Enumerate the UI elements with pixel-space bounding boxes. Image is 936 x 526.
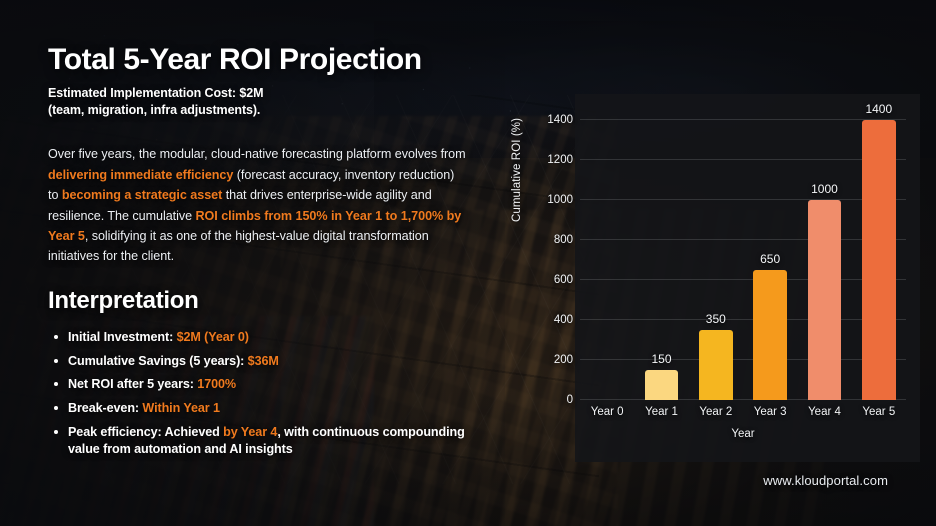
chart-bar-cell[interactable]: 150	[634, 100, 688, 400]
chart-y-tick-label: 1000	[547, 194, 573, 206]
interpretation-bullet-list: Initial Investment: $2M (Year 0) Cumulat…	[48, 329, 468, 458]
chart-bar-value-label: 1000	[811, 182, 838, 196]
chart-y-tick-label: 400	[554, 314, 573, 326]
bullet-label: Initial Investment:	[68, 330, 173, 344]
chart-bar-cell[interactable]: 1000	[797, 100, 851, 400]
chart-bar-cell[interactable]: 1400	[852, 100, 906, 400]
chart-bar-value-label: 1400	[865, 102, 892, 116]
chart-y-axis-label: Cumulative ROI (%)	[511, 90, 523, 250]
chart-x-axis-label: Year	[580, 428, 906, 440]
chart-bar[interactable]: 1400	[862, 120, 896, 400]
chart-bar[interactable]: 650	[753, 270, 787, 400]
list-item: Initial Investment: $2M (Year 0)	[48, 329, 468, 346]
implementation-cost-subtitle: Estimated Implementation Cost: $2M (team…	[48, 85, 468, 118]
subtitle-line-2: (team, migration, infra adjustments).	[48, 103, 260, 117]
bullet-label: Net ROI after 5 years:	[68, 377, 194, 391]
list-item: Peak efficiency: Achieved by Year 4, wit…	[48, 424, 468, 458]
page-title: Total 5-Year ROI Projection	[48, 44, 468, 76]
chart-bar-cell[interactable]	[580, 100, 634, 400]
bullet-value: by Year 4	[220, 425, 278, 439]
paragraph-segment-4: , solidifying it as one of the highest-v…	[48, 229, 429, 263]
interpretation-heading: Interpretation	[48, 287, 468, 315]
bullet-label: Cumulative Savings (5 years):	[68, 354, 244, 368]
summary-paragraph: Over five years, the modular, cloud-nati…	[48, 144, 468, 266]
chart-x-tick-label: Year 1	[634, 406, 688, 418]
chart-bar-cell[interactable]: 650	[743, 100, 797, 400]
chart-bars-group: 15035065010001400	[580, 100, 906, 400]
chart-x-tick-labels: Year 0Year 1Year 2Year 3Year 4Year 5	[580, 406, 906, 418]
subtitle-line-1: Estimated Implementation Cost: $2M	[48, 86, 263, 100]
paragraph-segment-1: Over five years, the modular, cloud-nati…	[48, 147, 466, 161]
chart-y-tick-label: 200	[554, 354, 573, 366]
bullet-value: $2M (Year 0)	[173, 330, 249, 344]
chart-bar[interactable]: 350	[699, 330, 733, 400]
bullet-label: Break-even:	[68, 401, 139, 415]
website-url[interactable]: www.kloudportal.com	[763, 473, 888, 488]
chart-y-tick-label: 1400	[547, 114, 573, 126]
chart-y-tick-label: 1200	[547, 154, 573, 166]
chart-bar-value-label: 350	[706, 312, 726, 326]
list-item: Net ROI after 5 years: 1700%	[48, 376, 468, 393]
chart-plot-area: 0200400600800100012001400 15035065010001…	[580, 100, 906, 400]
chart-y-tick-label: 800	[554, 234, 573, 246]
chart-x-tick-label: Year 0	[580, 406, 634, 418]
chart-bar[interactable]: 1000	[808, 200, 842, 400]
bullet-value: $36M	[244, 354, 279, 368]
list-item: Cumulative Savings (5 years): $36M	[48, 353, 468, 370]
slide-canvas: Total 5-Year ROI Projection Estimated Im…	[0, 0, 936, 526]
chart-x-tick-label: Year 2	[689, 406, 743, 418]
chart-bar-cell[interactable]: 350	[689, 100, 743, 400]
bullet-value: 1700%	[194, 377, 236, 391]
chart-bar-value-label: 650	[760, 252, 780, 266]
chart-x-tick-label: Year 3	[743, 406, 797, 418]
list-item: Break-even: Within Year 1	[48, 400, 468, 417]
paragraph-highlight-strategic-asset: becoming a strategic asset	[62, 188, 222, 202]
roi-bar-chart: Cumulative ROI (%) 020040060080010001200…	[470, 14, 920, 454]
chart-y-tick-label: 0	[567, 394, 573, 406]
chart-bar[interactable]: 150	[645, 370, 679, 400]
bullet-value: Within Year 1	[139, 401, 220, 415]
chart-x-tick-label: Year 4	[797, 406, 851, 418]
paragraph-highlight-efficiency: delivering immediate efficiency	[48, 168, 233, 182]
chart-y-tick-label: 600	[554, 274, 573, 286]
left-content-column: Total 5-Year ROI Projection Estimated Im…	[48, 44, 468, 465]
bullet-label: Peak efficiency: Achieved	[68, 425, 220, 439]
chart-bar-value-label: 150	[651, 352, 671, 366]
chart-x-tick-label: Year 5	[852, 406, 906, 418]
